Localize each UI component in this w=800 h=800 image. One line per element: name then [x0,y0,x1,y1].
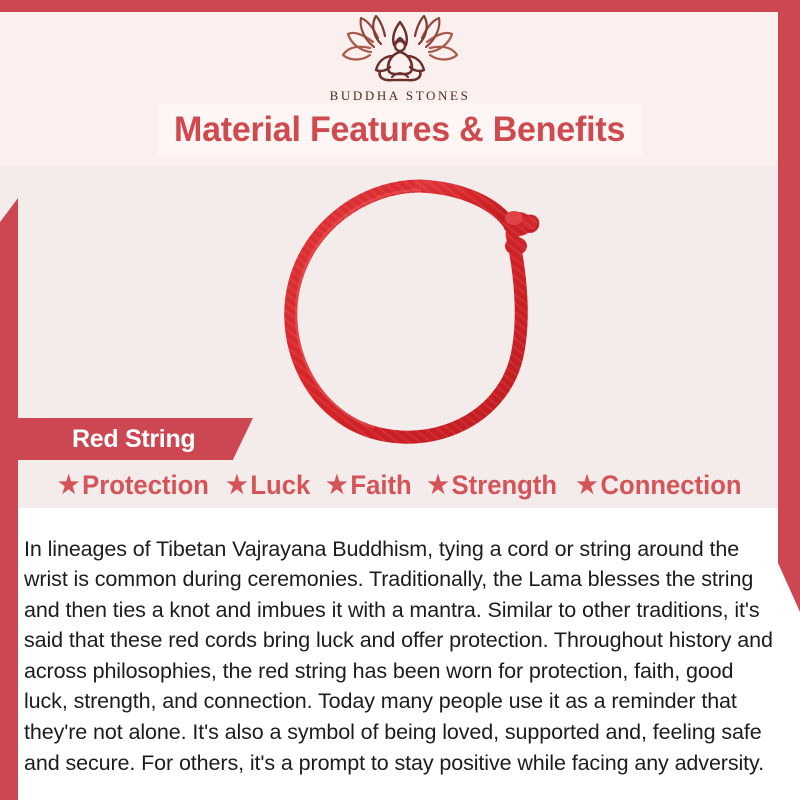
page-title: Material Features & Benefits [174,110,625,150]
feature-item-faith: ★ Faith [326,470,411,501]
feature-label: Faith [350,470,411,501]
poster-root: BUDDHA STONES Material Features & Benefi… [0,0,800,800]
star-icon: ★ [326,473,347,498]
star-icon: ★ [428,473,449,498]
feature-label: Protection [82,470,209,501]
feature-item-luck: ★ Luck [226,470,310,501]
feature-item-protection: ★ Protection [58,470,209,501]
feature-item-connection: ★ Connection [576,470,741,501]
feature-label: Luck [250,470,310,501]
frame-strip-right [778,0,800,612]
description-text: In lineages of Tibetan Vajrayana Buddhis… [24,534,776,779]
lotus-meditation-icon [0,14,800,87]
star-icon: ★ [58,473,79,498]
product-name-label: Red String [72,425,195,454]
feature-label: Connection [600,470,741,501]
feature-list: ★ Protection ★ Luck ★ Faith ★ Strength ★… [18,466,782,504]
brand-logo: BUDDHA STONES [0,14,800,104]
brand-name: BUDDHA STONES [0,88,800,104]
frame-strip-left [0,198,18,800]
product-name-ribbon: Red String [0,418,253,460]
star-icon: ★ [576,473,597,498]
feature-item-strength: ★ Strength [428,470,558,501]
title-banner: Material Features & Benefits [157,103,643,156]
feature-label: Strength [452,470,557,501]
red-string-bracelet-image [268,168,572,452]
star-icon: ★ [226,473,247,498]
frame-strip-top [0,0,800,12]
